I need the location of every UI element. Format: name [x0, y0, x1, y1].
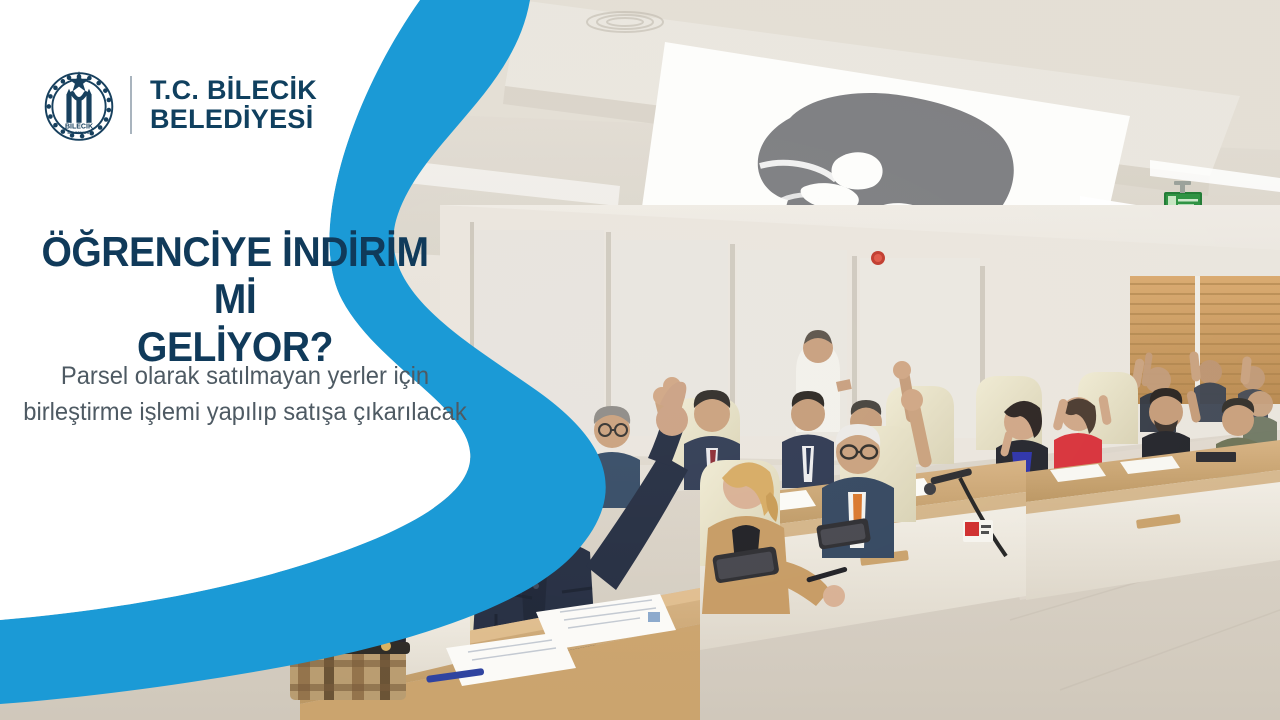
headline-line-1: ÖĞRENCİYE İNDİRİM Mİ	[16, 228, 453, 323]
subtitle-line-1: Parsel olarak satılmayan yerler için	[12, 358, 478, 394]
svg-text:BELEDİYESİ: BELEDİYESİ	[67, 131, 90, 135]
page-title: ÖĞRENCİYE İNDİRİM Mİ GELİYOR?	[16, 228, 453, 370]
logo-wordmark: T.C. BİLECİK BELEDİYESİ	[150, 76, 317, 134]
page-subtitle: Parsel olarak satılmayan yerler için bir…	[12, 358, 478, 431]
logo-line-2: BELEDİYESİ	[150, 105, 317, 134]
brand-logo[interactable]: BİLECİK BELEDİYESİ T.C. BİLECİK BELEDİYE…	[42, 68, 317, 142]
news-banner: BİLECİK BELEDİYESİ T.C. BİLECİK BELEDİYE…	[0, 0, 1280, 720]
subtitle-line-2: birleştirme işlemi yapılıp satışa çıkarı…	[12, 394, 478, 430]
svg-text:BİLECİK: BİLECİK	[65, 123, 93, 131]
logo-divider	[130, 76, 132, 134]
bilecik-belediyesi-emblem-icon: BİLECİK BELEDİYESİ	[42, 68, 116, 142]
logo-line-1: T.C. BİLECİK	[150, 76, 317, 105]
